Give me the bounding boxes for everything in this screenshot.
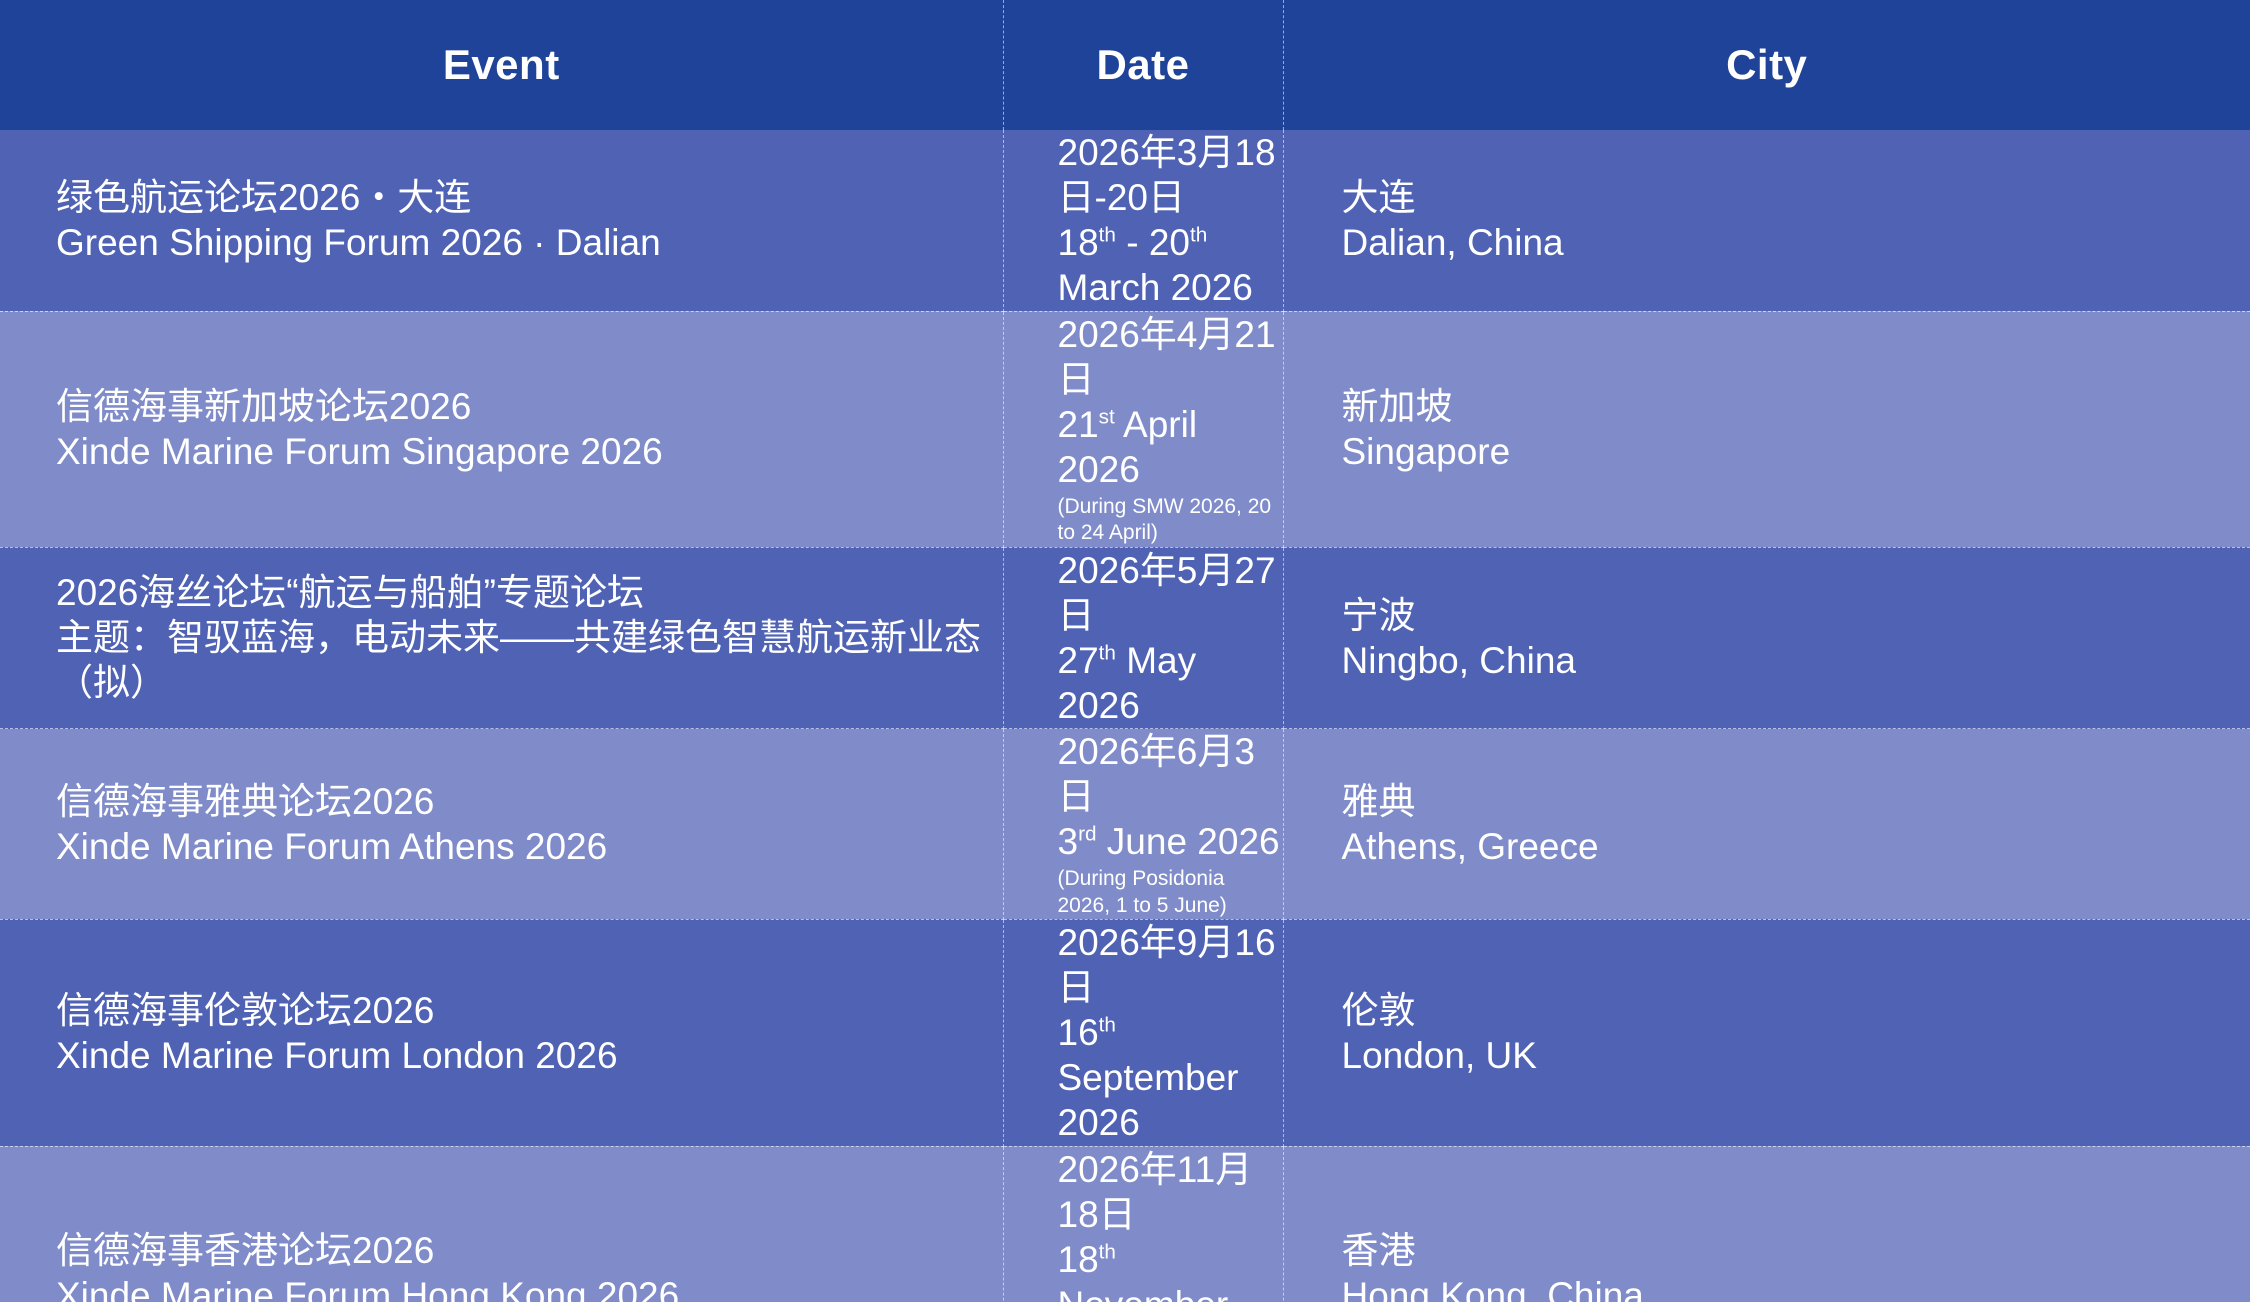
event-name-cn: 2026海丝论坛“航运与船舶”专题论坛 主题：智驭蓝海，电动未来——共建绿色智慧… [56, 570, 1003, 705]
city-en: Singapore [1342, 429, 2250, 474]
cell-event: 信德海事伦敦论坛2026 Xinde Marine Forum London 2… [0, 919, 1003, 1146]
table-body: 绿色航运论坛2026・大连 Green Shipping Forum 2026 … [0, 130, 2250, 1302]
cell-city: 雅典 Athens, Greece [1283, 729, 2250, 920]
date-day-number: 21 [1058, 404, 1099, 445]
date-cn: 2026年9月16日 [1058, 920, 1283, 1010]
date-note: (During SMW 2026, 20 to 24 April) [1058, 494, 1283, 547]
date-ordinal-suffix: th [1099, 1014, 1116, 1037]
date-ordinal-suffix: th [1099, 641, 1116, 664]
date-en-tail: June 2026 [1097, 821, 1280, 862]
city-cn: 大连 [1342, 175, 2250, 220]
table-row: 2026海丝论坛“航运与船舶”专题论坛 主题：智驭蓝海，电动未来——共建绿色智慧… [0, 547, 2250, 729]
date-en: 21st April 2026 [1058, 402, 1283, 492]
city-cn: 香港 [1342, 1228, 2250, 1273]
cell-event: 信德海事新加坡论坛2026 Xinde Marine Forum Singapo… [0, 311, 1003, 547]
city-en: Ningbo, China [1342, 638, 2250, 683]
date-day-number: 3 [1058, 821, 1079, 862]
event-schedule-table: Event Date City 绿色航运论坛2026・大连 Green Ship… [0, 0, 2250, 1302]
table-row: 绿色航运论坛2026・大连 Green Shipping Forum 2026 … [0, 130, 2250, 311]
date-cn: 2026年5月27日 [1058, 548, 1283, 638]
table-row: 信德海事伦敦论坛2026 Xinde Marine Forum London 2… [0, 919, 2250, 1146]
event-name-cn: 绿色航运论坛2026・大连 [56, 175, 1003, 220]
city-cn: 新加坡 [1342, 384, 2250, 429]
event-name-cn: 信德海事香港论坛2026 [56, 1228, 1003, 1273]
cell-date: 2026年5月27日 27th May 2026 [1003, 547, 1283, 729]
cell-event: 信德海事香港论坛2026 Xinde Marine Forum Hong Kon… [0, 1146, 1003, 1302]
event-name-cn: 信德海事雅典论坛2026 [56, 779, 1003, 824]
date-en-middle: - 20 [1116, 222, 1190, 263]
table-row: 信德海事新加坡论坛2026 Xinde Marine Forum Singapo… [0, 311, 2250, 547]
city-cn: 宁波 [1342, 593, 2250, 638]
event-name-en: Green Shipping Forum 2026 · Dalian [56, 220, 1003, 265]
cell-date: 2026年4月21日 21st April 2026 (During SMW 2… [1003, 311, 1283, 547]
date-ordinal-suffix-2: th [1190, 224, 1207, 247]
city-cn: 雅典 [1342, 779, 2250, 824]
date-ordinal-suffix: th [1099, 1240, 1116, 1263]
cell-event: 信德海事雅典论坛2026 Xinde Marine Forum Athens 2… [0, 729, 1003, 920]
event-name-cn: 信德海事伦敦论坛2026 [56, 988, 1003, 1033]
date-en: 18th - 20th March 2026 [1058, 220, 1283, 310]
date-en: 27th May 2026 [1058, 638, 1283, 728]
cell-event: 绿色航运论坛2026・大连 Green Shipping Forum 2026 … [0, 130, 1003, 311]
date-en: 3rd June 2026 [1058, 819, 1283, 864]
city-cn: 伦敦 [1342, 988, 2250, 1033]
event-name-cn: 信德海事新加坡论坛2026 [56, 384, 1003, 429]
event-name-en: Xinde Marine Forum Athens 2026 [56, 824, 1003, 869]
table-row: 信德海事雅典论坛2026 Xinde Marine Forum Athens 2… [0, 729, 2250, 920]
date-note: (During Posidonia 2026, 1 to 5 June) [1058, 866, 1283, 919]
date-day-number: 27 [1058, 640, 1099, 681]
date-ordinal-suffix: st [1099, 405, 1115, 428]
cell-city: 宁波 Ningbo, China [1283, 547, 2250, 729]
column-header-event: Event [0, 0, 1003, 130]
event-name-en: Xinde Marine Forum Singapore 2026 [56, 429, 1003, 474]
cell-date: 2026年6月3日 3rd June 2026 (During Posidoni… [1003, 729, 1283, 920]
date-cn: 2026年4月21日 [1058, 312, 1283, 402]
date-cn: 2026年3月18日-20日 [1058, 130, 1283, 220]
date-en: 16th September 2026 [1058, 1010, 1283, 1145]
date-day-number: 18 [1058, 1239, 1099, 1280]
event-name-en: Xinde Marine Forum London 2026 [56, 1033, 1003, 1078]
date-day-number: 18 [1058, 222, 1099, 263]
cell-date: 2026年9月16日 16th September 2026 [1003, 919, 1283, 1146]
table-header-row: Event Date City [0, 0, 2250, 130]
city-en: London, UK [1342, 1033, 2250, 1078]
date-ordinal-suffix: th [1099, 224, 1116, 247]
table-row: 信德海事香港论坛2026 Xinde Marine Forum Hong Kon… [0, 1146, 2250, 1302]
cell-city: 香港 Hong Kong, China [1283, 1146, 2250, 1302]
column-header-city: City [1283, 0, 2250, 130]
event-name-en: Xinde Marine Forum Hong Kong 2026 [56, 1273, 1003, 1302]
table-header: Event Date City [0, 0, 2250, 130]
cell-date: 2026年3月18日-20日 18th - 20th March 2026 [1003, 130, 1283, 311]
cell-event: 2026海丝论坛“航运与船舶”专题论坛 主题：智驭蓝海，电动未来——共建绿色智慧… [0, 547, 1003, 729]
cell-city: 大连 Dalian, China [1283, 130, 2250, 311]
city-en: Dalian, China [1342, 220, 2250, 265]
date-en: 18th November 2026 [1058, 1237, 1283, 1302]
date-cn: 2026年6月3日 [1058, 729, 1283, 819]
city-en: Athens, Greece [1342, 824, 2250, 869]
date-ordinal-suffix: rd [1078, 823, 1096, 846]
city-en: Hong Kong, China [1342, 1273, 2250, 1302]
cell-city: 伦敦 London, UK [1283, 919, 2250, 1146]
cell-city: 新加坡 Singapore [1283, 311, 2250, 547]
column-header-date: Date [1003, 0, 1283, 130]
date-day-number: 16 [1058, 1012, 1099, 1053]
event-schedule-page: Event Date City 绿色航运论坛2026・大连 Green Ship… [0, 0, 2250, 1302]
date-cn: 2026年11月18日 [1058, 1147, 1283, 1237]
cell-date: 2026年11月18日 18th November 2026 (During H… [1003, 1146, 1283, 1302]
